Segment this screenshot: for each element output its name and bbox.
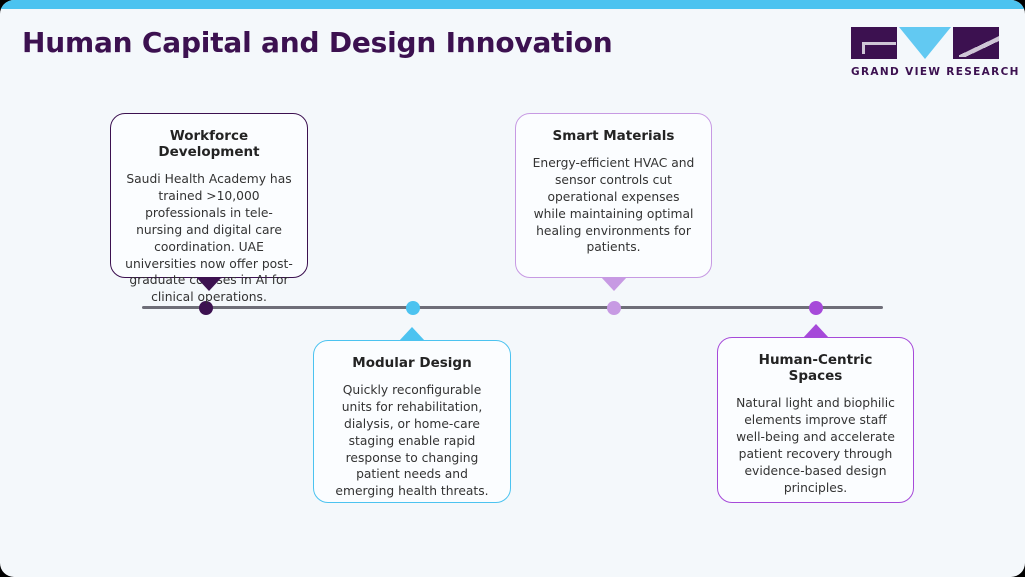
dot-modular-design[interactable]	[406, 301, 420, 315]
timeline-axis	[142, 306, 883, 309]
card-title-smart-materials: Smart Materials	[530, 128, 697, 144]
card-pointer-modular-design	[399, 327, 425, 341]
card-body-modular-design: Quickly reconfigurable units for rehabil…	[328, 382, 496, 500]
logo-marks	[851, 27, 999, 59]
card-body-human-centric-spaces: Natural light and biophilic elements imp…	[732, 395, 899, 496]
card-body-smart-materials: Energy-efficient HVAC and sensor control…	[530, 155, 697, 256]
card-modular-design[interactable]: Modular DesignQuickly reconfigurable uni…	[313, 340, 511, 503]
card-human-centric-spaces[interactable]: Human-Centric SpacesNatural light and bi…	[717, 337, 914, 503]
card-title-human-centric-spaces: Human-Centric Spaces	[732, 352, 899, 384]
dot-smart-materials[interactable]	[607, 301, 621, 315]
grand-view-research-logo: GRAND VIEW RESEARCH	[851, 27, 999, 78]
card-workforce-development[interactable]: Workforce DevelopmentSaudi Health Academ…	[110, 113, 308, 278]
card-pointer-smart-materials	[601, 277, 627, 291]
dot-human-centric-spaces[interactable]	[809, 301, 823, 315]
logo-r-slash	[959, 35, 999, 57]
top-accent-bar	[0, 0, 1025, 9]
card-title-modular-design: Modular Design	[328, 355, 496, 371]
logo-triangle-icon	[899, 27, 951, 59]
logo-g-notch-vertical	[862, 42, 865, 54]
logo-wordmark: GRAND VIEW RESEARCH	[851, 66, 999, 78]
logo-g-block-icon	[851, 27, 897, 59]
card-smart-materials[interactable]: Smart MaterialsEnergy-efficient HVAC and…	[515, 113, 712, 278]
slide-canvas: Human Capital and Design Innovation GRAN…	[0, 0, 1025, 577]
card-pointer-human-centric-spaces	[803, 324, 829, 338]
page-title: Human Capital and Design Innovation	[22, 26, 613, 59]
logo-g-notch-horizontal	[862, 42, 896, 45]
logo-r-block-icon	[953, 27, 999, 59]
card-title-workforce-development: Workforce Development	[125, 128, 293, 160]
card-pointer-workforce-development	[196, 277, 222, 291]
